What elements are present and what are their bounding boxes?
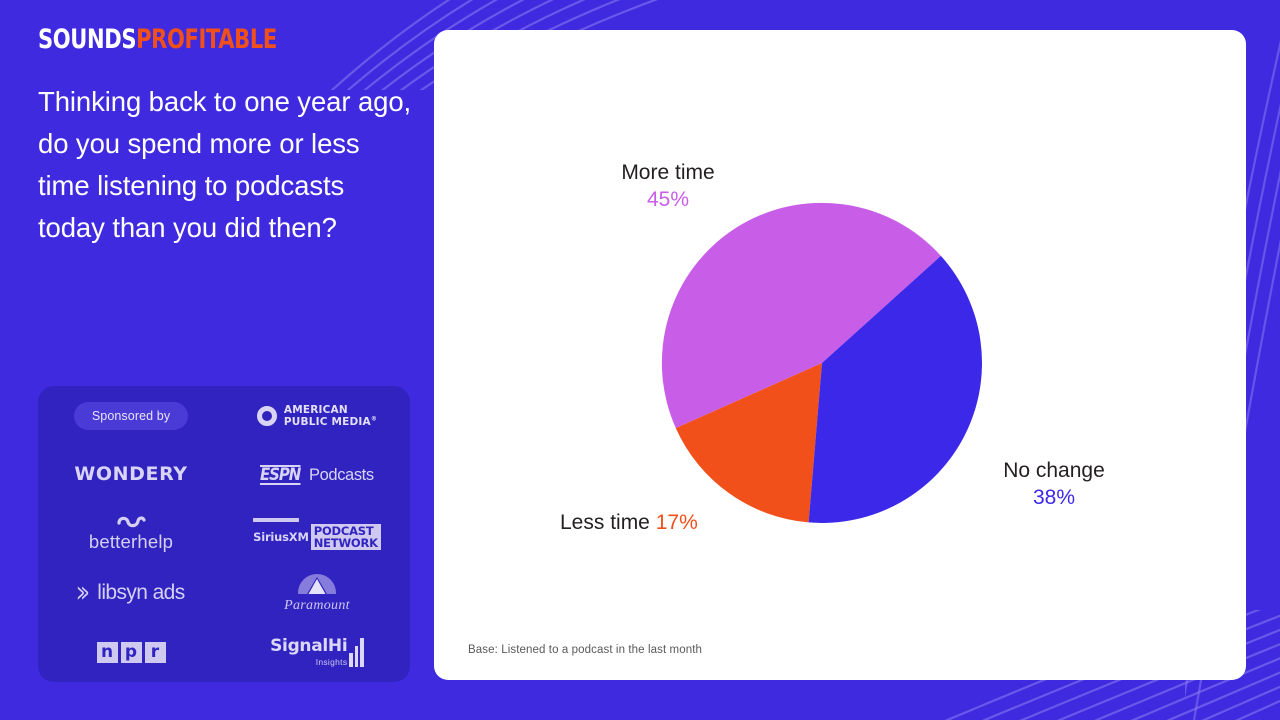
siriusxm-label: SiriusXM [253, 530, 309, 544]
espn-podcasts-label: Podcasts [309, 466, 374, 485]
signalhill-label: SignalHi [270, 638, 347, 655]
sponsor-logo-signal-hill-insights[interactable]: SignalHi Insights [224, 623, 410, 682]
mountain-icon [296, 572, 338, 598]
espn-mark: ESPN [260, 465, 300, 485]
bars-icon [349, 637, 364, 667]
pie-label-more-time-value: 45% [598, 187, 738, 214]
signalhill-sub-label: Insights [316, 657, 348, 667]
pie-label-more-time-text: More time [621, 161, 714, 184]
sounds-profitable-logo[interactable]: SOUNDSPROFITABLE [38, 26, 334, 53]
survey-question-text: Thinking back to one year ago, do you sp… [38, 81, 418, 249]
sponsor-panel: Sponsored by AMERICAN PUBLIC MEDIA® WOND… [38, 386, 410, 682]
npr-letter-p: p [121, 642, 142, 663]
pie-label-less-time-text: Less time [560, 511, 650, 534]
left-column: SOUNDSPROFITABLE Thinking back to one ye… [38, 26, 418, 249]
sponsor-grid: Sponsored by AMERICAN PUBLIC MEDIA® WOND… [38, 386, 410, 682]
sponsor-logo-paramount[interactable]: Paramount [224, 564, 410, 623]
ring-icon [257, 406, 277, 426]
npr-letter-n: n [97, 642, 118, 663]
slide-canvas: SOUNDSPROFITABLE Thinking back to one ye… [0, 0, 1280, 720]
siriusxm-box-line2: NETWORK [314, 537, 378, 549]
libsyn-mark-icon: ≫ [77, 582, 87, 604]
sponsored-by-cell: Sponsored by [38, 386, 224, 445]
siriusxm-top-bar [253, 518, 299, 522]
logo-text-profitable: PROFITABLE [136, 24, 277, 55]
sponsored-by-badge: Sponsored by [74, 402, 188, 430]
pie-label-more-time: More time 45% [598, 160, 738, 214]
apm-trademark: ® [371, 415, 377, 422]
sponsor-logo-siriusxm[interactable]: SiriusXM PODCAST NETWORK [224, 504, 410, 563]
apm-line2: PUBLIC MEDIA [284, 416, 371, 428]
paramount-label: Paramount [284, 598, 350, 614]
chart-card: More time 45% No change 38% Less time 17… [434, 30, 1246, 680]
wondery-label: WONDERY [74, 465, 187, 484]
pie-label-no-change-value: 38% [984, 485, 1124, 512]
sponsor-logo-american-public-media[interactable]: AMERICAN PUBLIC MEDIA® [224, 386, 410, 445]
sponsor-logo-betterhelp[interactable]: betterhelp [38, 504, 224, 563]
chart-base-note: Base: Listened to a podcast in the last … [468, 644, 702, 656]
libsyn-ads-label: libsyn ads [97, 581, 184, 605]
logo-text-sounds: SOUNDS [38, 24, 136, 55]
sponsor-logo-espn-podcasts[interactable]: ESPN Podcasts [224, 445, 410, 504]
betterhelp-label: betterhelp [89, 531, 173, 553]
npr-letter-r: r [145, 642, 166, 663]
sponsor-logo-wondery[interactable]: WONDERY [38, 445, 224, 504]
pie-chart-svg [434, 30, 1246, 680]
pie-label-no-change: No change 38% [984, 458, 1124, 512]
pie-chart: More time 45% No change 38% Less time 17… [434, 30, 1246, 680]
pie-label-less-time-value: 17% [656, 511, 698, 534]
sponsor-logo-npr[interactable]: n p r [38, 623, 224, 682]
pie-label-less-time: Less time 17% [560, 510, 698, 537]
swirl-icon [116, 515, 146, 528]
pie-label-no-change-text: No change [1003, 459, 1105, 482]
sponsor-logo-libsyn-ads[interactable]: ≫ libsyn ads [38, 564, 224, 623]
apm-line1: AMERICAN [284, 404, 377, 416]
